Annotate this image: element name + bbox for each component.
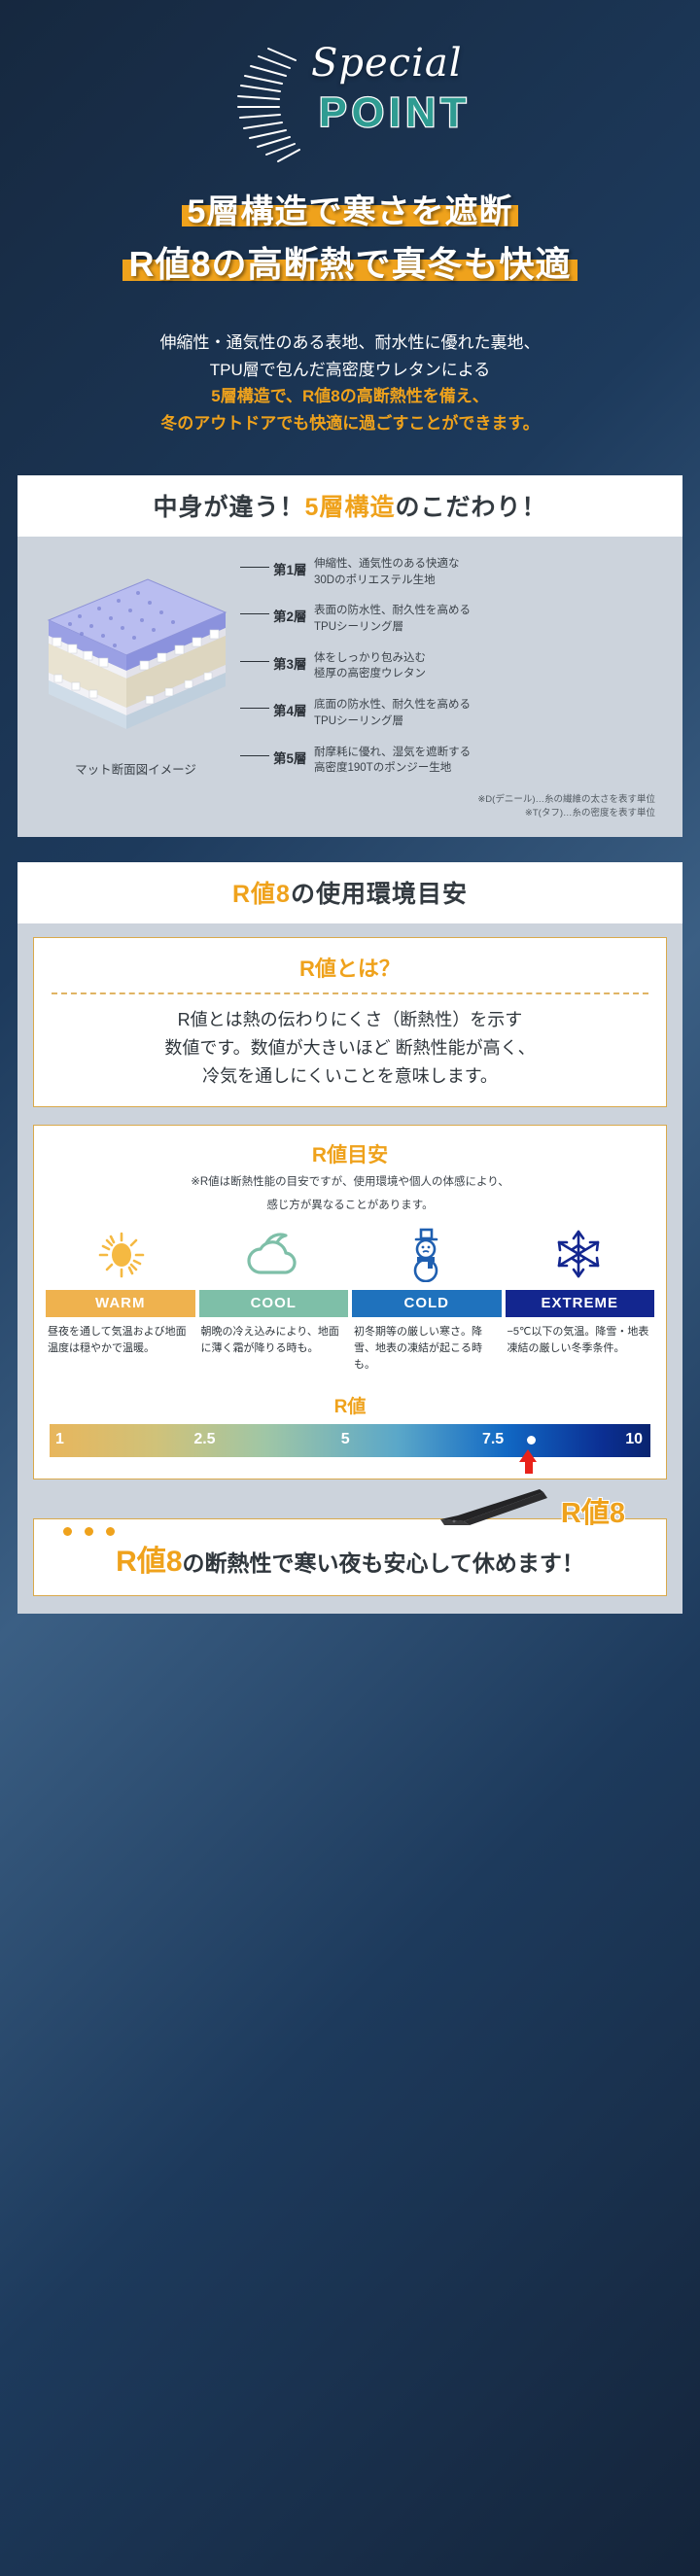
layer-number: 第2層 xyxy=(273,603,314,625)
weather-icon-cell xyxy=(350,1228,503,1282)
layer-description: 底面の防水性、耐久性を高める TPUシーリング層 xyxy=(314,697,471,729)
scale-marker-dot xyxy=(527,1436,536,1445)
rvalue8-float-label: R値8 xyxy=(561,1490,625,1531)
rvalue-guide-note: 感じ方が異なることがあります。 xyxy=(46,1198,654,1215)
layer-diagram-area: マット断面図イメージ 第1層 伸縮性、通気性のある快適な 30Dのポリエステル生… xyxy=(17,537,682,819)
climate-badge-extreme: EXTREME xyxy=(506,1290,655,1317)
climate-description: 朝晩の冷え込みにより、地面に薄く霜が降りる時も。 xyxy=(199,1324,349,1374)
layer-row: 第1層 伸縮性、通気性のある快適な 30Dのポリエステル生地 xyxy=(240,556,669,588)
lead-line: 伸縮性・通気性のある表地、耐水性に優れた裏地、 xyxy=(0,330,700,357)
layer-footnotes: ※D(デニール)…糸の繊維の太さを表す単位 ※T(タフ)…糸の密度を表す単位 xyxy=(240,791,669,820)
layer-number: 第3層 xyxy=(273,650,314,673)
weather-icon-cell xyxy=(198,1228,351,1282)
climate-badge-cold: COLD xyxy=(352,1290,502,1317)
layer-labels-column: 第1層 伸縮性、通気性のある快適な 30Dのポリエステル生地 第2層 表面の防水… xyxy=(240,552,669,819)
cloud-moon-icon xyxy=(245,1228,303,1280)
emphasis-dots xyxy=(63,1527,115,1536)
lead-line-accent: 5層構造で、R値8の高断熱性を備え、 xyxy=(0,383,700,410)
final-callout-card: R値8 R値8の断熱性で寒い夜も安心して休めます！ xyxy=(33,1518,667,1596)
scale-label: R値 xyxy=(46,1392,654,1418)
layer-row: 第2層 表面の防水性、耐久性を高める TPUシーリング層 xyxy=(240,603,669,635)
final-callout-text: R値8の断熱性で寒い夜も安心して休めます！ xyxy=(44,1537,656,1580)
headline-line-2: R値8の高断熱で真冬も快適 xyxy=(128,236,571,287)
climate-descriptions-row: 昼夜を通して気温および地面温度は穏やかで温暖。 朝晩の冷え込みにより、地面に薄く… xyxy=(46,1324,654,1374)
headline-line-1: 5層構造で寒さを遮断 xyxy=(188,185,513,232)
rvalue-guide-card: R値目安 ※R値は断熱性能の目安ですが、使用環境や個人の体感により、 感じ方が異… xyxy=(33,1125,667,1479)
mat-caption: マット断面図イメージ xyxy=(31,759,240,778)
climate-badges-row: WARM COOL COLD EXTREME xyxy=(46,1290,654,1317)
layer-title-accent: 5層構造 xyxy=(305,494,396,521)
final-accent: R値8 xyxy=(116,1546,182,1578)
weather-icon-cell xyxy=(46,1228,198,1282)
hero-headline: 5層構造で寒さを遮断 R値8の高断熱で真冬も快適 xyxy=(0,183,700,289)
rvalue-guide-note: ※R値は断熱性能の目安ですが、使用環境や個人の体感により、 xyxy=(46,1174,654,1192)
mat-cross-section-image: マット断面図イメージ xyxy=(31,552,240,819)
ray-burst-icon xyxy=(212,43,319,169)
layer-description: 耐摩耗に優れ、湿気を遮断する 高密度190Tのポンジー生地 xyxy=(314,745,471,777)
footnote: ※D(デニール)…糸の繊維の太さを表す単位 xyxy=(240,793,655,807)
layer-number: 第4層 xyxy=(273,697,314,719)
infographic-page: Special POINT 5層構造で寒さを遮断 R値8の高断熱で真冬も快適 伸… xyxy=(0,0,700,2576)
scale-tick: 5 xyxy=(341,1431,350,1448)
weather-icons-row xyxy=(46,1228,654,1282)
scale-tick: 10 xyxy=(625,1431,643,1448)
leader-line xyxy=(240,708,269,709)
hero-lead-paragraph: 伸縮性・通気性のある表地、耐水性に優れた裏地、 TPU層で包んだ高密度ウレタンに… xyxy=(0,330,700,436)
rvalue-title-accent: R値8 xyxy=(232,881,291,908)
leader-line xyxy=(240,613,269,614)
climate-badge-warm: WARM xyxy=(46,1290,195,1317)
dashed-divider xyxy=(52,992,648,994)
special-point-logo: Special POINT xyxy=(194,33,506,179)
leader-line xyxy=(240,661,269,662)
snowflake-icon xyxy=(552,1228,605,1280)
lead-line-accent: 冬のアウトドアでも快適に過ごすことができます。 xyxy=(0,410,700,437)
climate-badge-cool: COOL xyxy=(199,1290,349,1317)
climate-description: 初冬期等の厳しい寒さ。降雪、地表の凍結が起こる時も。 xyxy=(352,1324,502,1374)
climate-description: −5℃以下の気温。降雪・地表凍結の厳しい冬季条件。 xyxy=(506,1324,655,1374)
scale-tick: 2.5 xyxy=(193,1431,215,1448)
layer-structure-panel: 中身が違う！5層構造のこだわり！ xyxy=(17,475,682,837)
sun-icon xyxy=(95,1228,148,1280)
layer-row: 第3層 体をしっかり包み込む 極厚の高密度ウレタン xyxy=(240,650,669,682)
layer-description: 体をしっかり包み込む 極厚の高密度ウレタン xyxy=(314,650,426,682)
rvalue-body-line: 数値です。数値が大きいほど 断熱性能が高く、 xyxy=(46,1034,654,1062)
rvalue-guide-heading: R値目安 xyxy=(46,1139,654,1168)
hero-section: Special POINT 5層構造で寒さを遮断 R値8の高断熱で真冬も快適 伸… xyxy=(0,0,700,436)
rvalue-scale: 1 2.5 5 7.5 10 xyxy=(50,1424,650,1457)
what-is-rvalue-heading: R値とは？ xyxy=(46,952,654,983)
layer-panel-title: 中身が違う！5層構造のこだわり！ xyxy=(17,475,682,537)
rvalue-title-suffix: の使用環境目安 xyxy=(291,881,468,908)
special-script-text: Special xyxy=(311,41,463,86)
scale-arrow-head xyxy=(519,1449,537,1462)
scale-tick: 7.5 xyxy=(482,1431,504,1448)
headline-text-1: 5層構造で寒さを遮断 xyxy=(188,185,513,232)
layer-description: 伸縮性、通気性のある快適な 30Dのポリエステル生地 xyxy=(314,556,460,588)
rvalue-body-line: 冷気を通しにくいことを意味します。 xyxy=(46,1062,654,1091)
point-text: POINT xyxy=(319,89,471,137)
scale-gradient-bar: 1 2.5 5 7.5 10 xyxy=(50,1424,650,1457)
layer-title-suffix: のこだわり！ xyxy=(395,494,546,521)
rvalue-panel-title: R値8の使用環境目安 xyxy=(17,862,682,923)
leader-line xyxy=(240,567,269,568)
final-rest: の断熱性で寒い夜も安心して休めます！ xyxy=(183,1550,584,1576)
rvalue-panel: R値8の使用環境目安 R値とは？ R値とは熱の伝わりにくさ（断熱性）を示す 数値… xyxy=(17,862,682,1613)
lead-line: TPU層で包んだ高密度ウレタンによる xyxy=(0,357,700,384)
rvalue-body-line: R値とは熱の伝わりにくさ（断熱性）を示す xyxy=(46,1006,654,1034)
weather-icon-cell xyxy=(503,1228,655,1282)
snowman-icon xyxy=(404,1228,447,1282)
scale-tick: 1 xyxy=(55,1431,64,1448)
mat-layers-illustration xyxy=(31,552,240,747)
layer-title-prefix: 中身が違う！ xyxy=(154,494,305,521)
layer-row: 第5層 耐摩耗に優れ、湿気を遮断する 高密度190Tのポンジー生地 xyxy=(240,745,669,777)
climate-description: 昼夜を通して気温および地面温度は穏やかで温暖。 xyxy=(46,1324,195,1374)
layer-number: 第1層 xyxy=(273,556,314,578)
headline-text-2: R値8の高断熱で真冬も快適 xyxy=(128,236,571,287)
leader-line xyxy=(240,755,269,756)
sleeping-pad-image xyxy=(435,1486,549,1527)
what-is-rvalue-card: R値とは？ R値とは熱の伝わりにくさ（断熱性）を示す 数値です。数値が大きいほど… xyxy=(33,937,667,1106)
layer-description: 表面の防水性、耐久性を高める TPUシーリング層 xyxy=(314,603,471,635)
layer-number: 第5層 xyxy=(273,745,314,767)
layer-row: 第4層 底面の防水性、耐久性を高める TPUシーリング層 xyxy=(240,697,669,729)
footnote: ※T(タフ)…糸の密度を表す単位 xyxy=(240,807,655,820)
